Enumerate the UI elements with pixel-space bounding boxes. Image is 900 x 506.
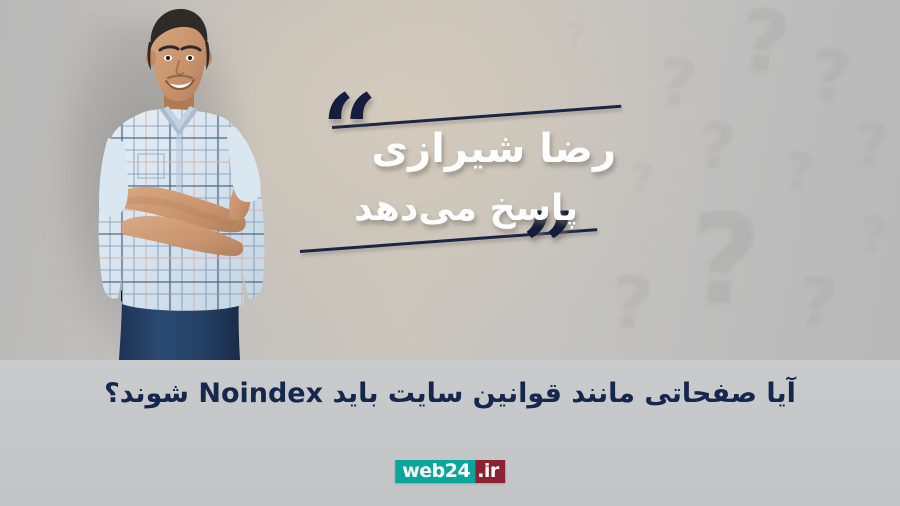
question-mark-icon: ؟: [631, 161, 657, 197]
presenter-illustration: [82, 8, 278, 360]
question-mark-icon: ؟: [861, 213, 890, 254]
speaker-action: پاسخ می‌دهد: [354, 188, 578, 229]
presenter-photo: [82, 8, 278, 360]
speaker-name: رضا شیرازی: [371, 126, 616, 172]
quote-block: “ ” رضا شیرازی پاسخ می‌دهد: [300, 88, 620, 278]
question-mark-icon: ؟: [658, 54, 700, 111]
question-mark-icon: ؟: [785, 149, 817, 193]
question-mark-icon: ؟: [855, 119, 891, 170]
web24-logo[interactable]: web24 .ir: [395, 460, 505, 483]
logo-tld-text: .ir: [475, 460, 505, 483]
question-mark-icon: ؟: [565, 21, 588, 52]
promo-banner-image: ؟؟؟؟؟؟؟؟؟؟؟؟: [0, 0, 900, 506]
question-mark-icon: ؟: [609, 270, 656, 335]
question-mark-icon: ؟: [810, 45, 855, 107]
question-mark-icon: ؟: [798, 273, 840, 332]
question-mark-icon: ؟: [738, 4, 794, 80]
banner-question-title: آیا صفحاتی مانند قوانین سایت باید Noinde…: [0, 378, 900, 409]
question-mark-icon: ؟: [687, 206, 764, 315]
logo-main-text: web24: [395, 460, 475, 483]
quote-open-icon: “: [322, 82, 373, 178]
question-mark-icon: ؟: [697, 118, 738, 174]
bottom-banner: آیا صفحاتی مانند قوانین سایت باید Noinde…: [0, 360, 900, 506]
